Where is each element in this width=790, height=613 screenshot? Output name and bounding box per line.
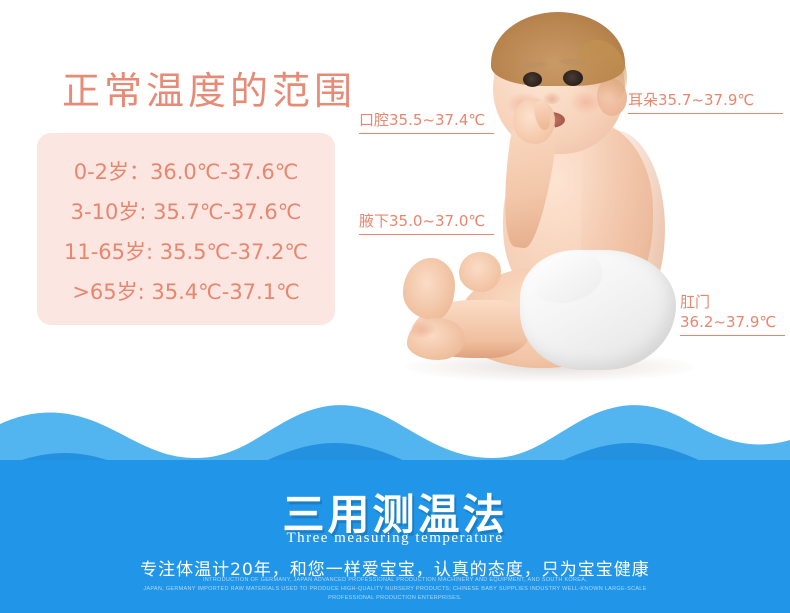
promo-banner-page: 正常温度的范围 0-2岁：36.0℃-37.6℃ 3-10岁: 35.7℃-37… xyxy=(0,0,790,613)
fineprint-line-2: JAPAN, GERMANY IMPORTED RAW MATERIALS US… xyxy=(0,586,790,592)
brand-section: 三用测温法 Three measuring temperature 专注体温计2… xyxy=(0,460,790,613)
callout-ear-rule xyxy=(628,113,783,114)
range-line-3-10: 3-10岁: 35.7℃-37.6℃ xyxy=(71,193,302,231)
page-title: 正常温度的范围 xyxy=(62,60,356,115)
callout-mouth-label: 口腔35.5~37.4℃ xyxy=(359,111,485,129)
callout-armpit: 腋下35.0~37.0℃ xyxy=(359,211,494,235)
range-line-0-2: 0-2岁：36.0℃-37.6℃ xyxy=(74,153,299,191)
callout-mouth-rule xyxy=(359,133,494,134)
normal-temperature-section: 正常温度的范围 0-2岁：36.0℃-37.6℃ 3-10岁: 35.7℃-37… xyxy=(0,0,790,410)
callout-ear-label: 耳朵35.7~37.9℃ xyxy=(628,91,754,109)
baby-foot-back xyxy=(403,258,455,320)
baby-toes xyxy=(409,322,435,338)
callout-mouth: 口腔35.5~37.4℃ xyxy=(359,110,494,134)
baby-eye-right xyxy=(563,70,583,86)
callout-ear: 耳朵35.7~37.9℃ xyxy=(628,90,783,114)
baby-cheek-right xyxy=(570,90,602,114)
callout-anus-value: 36.2~37.9℃ xyxy=(680,312,785,332)
callout-armpit-label: 腋下35.0~37.0℃ xyxy=(359,212,485,230)
callout-anus-label: 肛门 xyxy=(680,292,785,312)
fineprint-line-3: PROFESSIONAL PRODUCTION ENTERPRISES. xyxy=(0,595,790,601)
fineprint-line-1: INTRODUCTION OF GERMANY, JAPAN ADVANCED … xyxy=(0,577,790,583)
range-line-over-65: >65岁: 35.4℃-37.1℃ xyxy=(72,273,299,311)
callout-armpit-rule xyxy=(359,234,494,235)
baby-photo xyxy=(385,0,725,400)
brand-subtitle: Three measuring temperature xyxy=(0,530,790,547)
baby-lower-hand xyxy=(459,252,501,292)
range-line-11-65: 11-65岁: 35.5℃-37.2℃ xyxy=(64,233,308,271)
callout-anus-rule xyxy=(680,335,785,336)
callout-anus: 肛门 36.2~37.9℃ xyxy=(680,292,785,336)
baby-eye-left xyxy=(523,72,542,87)
temperature-range-card: 0-2岁：36.0℃-37.6℃ 3-10岁: 35.7℃-37.6℃ 11-6… xyxy=(37,133,335,325)
